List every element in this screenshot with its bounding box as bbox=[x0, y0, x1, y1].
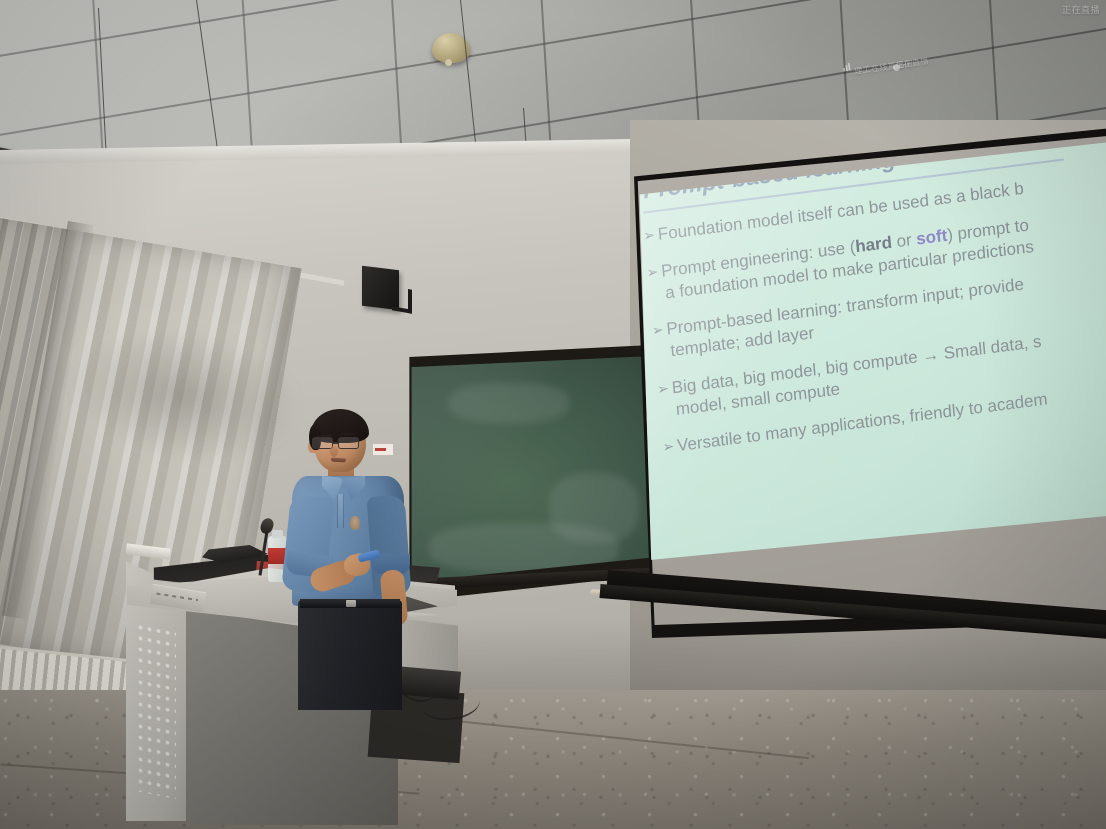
chalk-smudge bbox=[449, 383, 569, 423]
eyeglass-lens-right bbox=[338, 437, 359, 449]
nose bbox=[330, 446, 338, 457]
presenter bbox=[288, 404, 418, 704]
belt-buckle bbox=[346, 600, 356, 607]
lecture-hall-screenshot: Prompt-based learning ➢ Foundation model… bbox=[0, 0, 1106, 829]
slide-glare bbox=[624, 142, 1106, 562]
projected-slide: Prompt-based learning ➢ Foundation model… bbox=[624, 142, 1106, 562]
speaker-bracket bbox=[392, 286, 412, 314]
eyeglasses-icon bbox=[312, 437, 366, 449]
shirt-placket bbox=[337, 494, 344, 528]
trousers bbox=[298, 600, 402, 710]
water-bottle-cap bbox=[272, 530, 283, 538]
chalkboard-surface bbox=[409, 353, 667, 589]
chalkboard bbox=[404, 344, 672, 604]
shirt-logo-icon bbox=[350, 516, 360, 530]
eyeglass-bridge bbox=[333, 442, 338, 444]
lectern-vent-holes bbox=[136, 621, 176, 799]
mouth bbox=[331, 458, 346, 463]
